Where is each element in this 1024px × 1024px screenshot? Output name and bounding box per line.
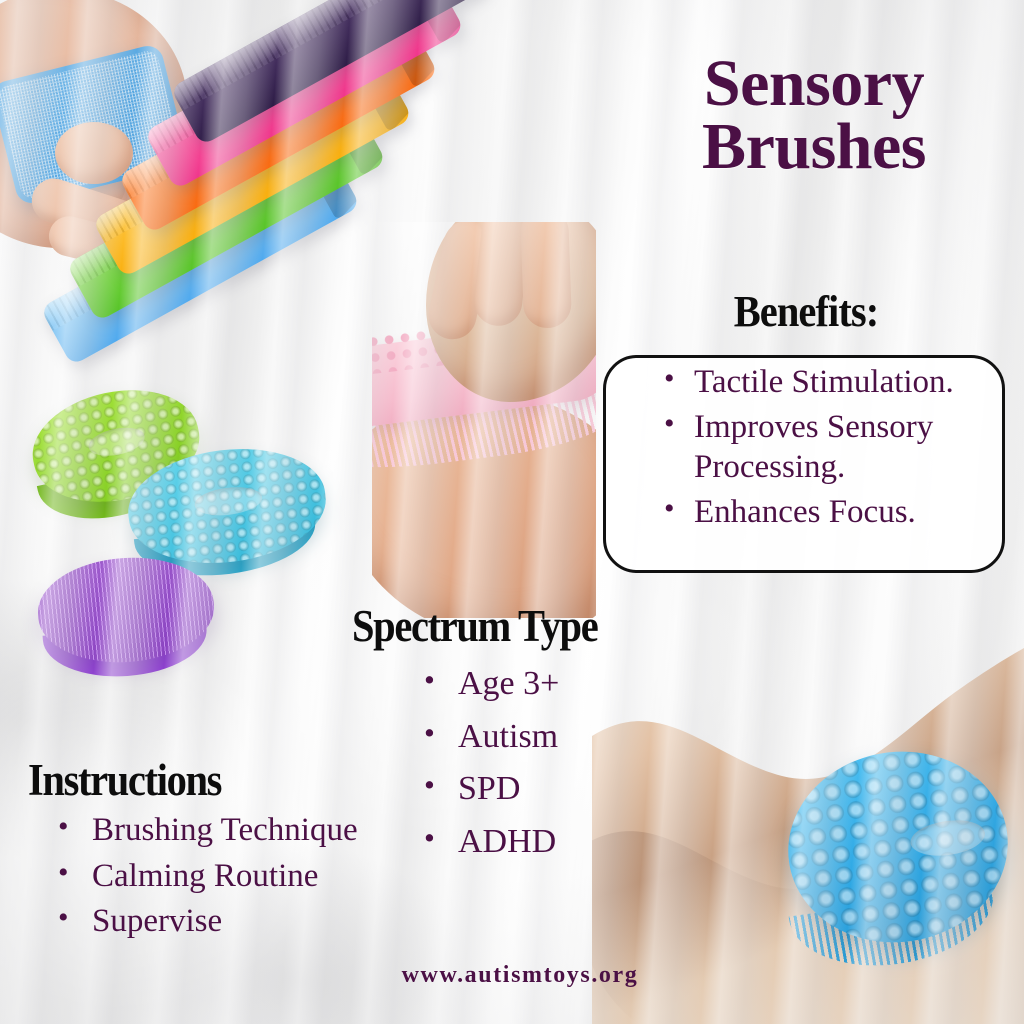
instructions-heading: Instructions — [28, 758, 221, 803]
list-item: Age 3+ — [424, 658, 724, 711]
title-line-2: Brushes — [612, 115, 1016, 178]
blue-round-brush — [776, 738, 1020, 957]
hand-shape — [426, 222, 596, 402]
list-item: Supervise — [58, 901, 388, 943]
title-line-1: Sensory — [704, 47, 924, 120]
benefits-list: Tactile Stimulation. Improves Sensory Pr… — [636, 358, 1024, 534]
spectrum-type-heading: Spectrum Type — [352, 604, 597, 649]
oval-brush-cyan — [122, 438, 332, 573]
page-title: Sensory Brushes — [612, 52, 1016, 179]
poster-canvas: Sensory Brushes Benefits: Tactile Stimul… — [0, 0, 1024, 1024]
list-item: Tactile Stimulation. — [664, 362, 1024, 403]
photo-pink-brush-on-arm — [372, 222, 596, 618]
list-item: SPD — [424, 763, 724, 816]
instructions-list: Brushing Technique Calming Routine Super… — [58, 810, 388, 947]
list-item: Enhances Focus. — [664, 492, 1024, 533]
list-item: ADHD — [424, 816, 724, 869]
benefits-heading: Benefits: — [616, 290, 995, 334]
oval-brush-purple — [35, 552, 218, 668]
list-item: Brushing Technique — [58, 810, 388, 852]
list-item: Autism — [424, 711, 724, 764]
spectrum-type-list: Age 3+ Autism SPD ADHD — [424, 658, 724, 869]
website-url[interactable]: www.autismtoys.org — [350, 962, 690, 989]
list-item: Improves Sensory Processing. — [664, 407, 1024, 488]
list-item: Calming Routine — [58, 856, 388, 898]
